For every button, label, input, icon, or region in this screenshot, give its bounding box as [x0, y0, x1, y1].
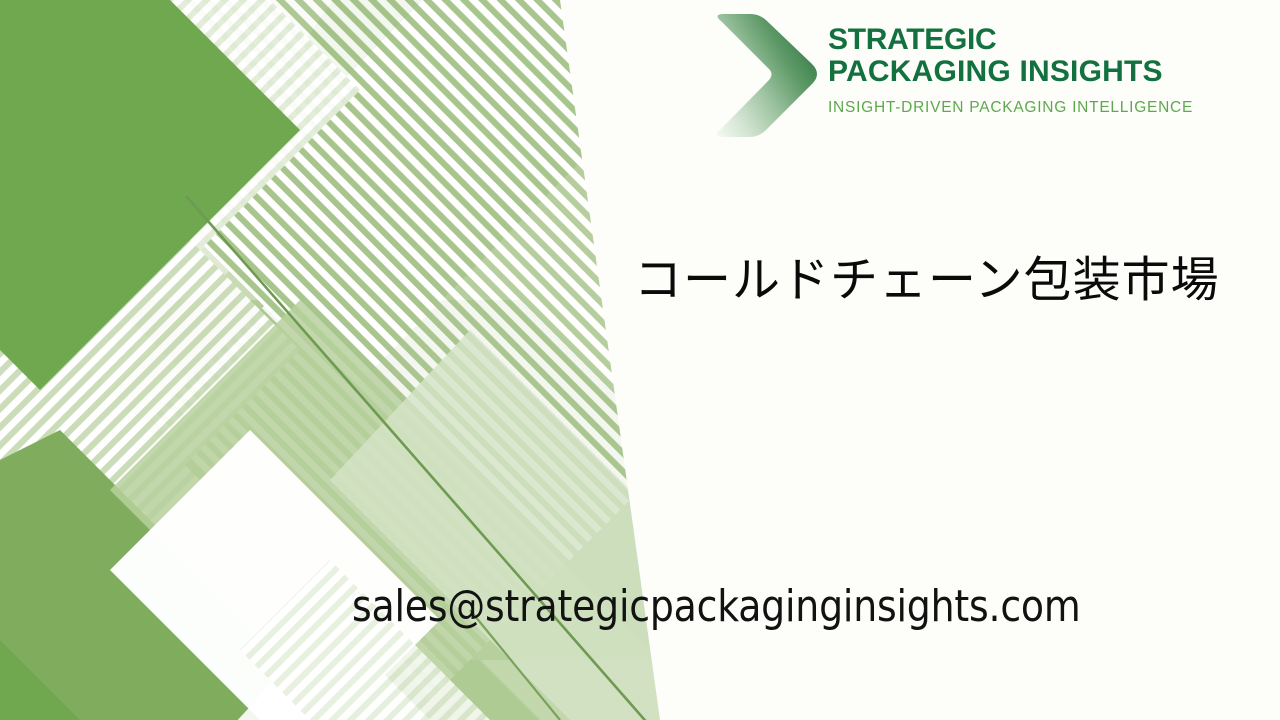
- contact-email[interactable]: sales@strategicpackaginginsights.com: [352, 578, 1081, 636]
- chevron-mark-icon: [706, 8, 822, 144]
- company-logo: STRATEGIC PACKAGING INSIGHTS INSIGHT-DRI…: [706, 8, 1226, 144]
- logo-name-line-2: PACKAGING INSIGHTS: [828, 56, 1193, 88]
- logo-tagline: INSIGHT-DRIVEN PACKAGING INTELLIGENCE: [828, 99, 1193, 117]
- logo-name: STRATEGIC PACKAGING INSIGHTS: [828, 24, 1193, 88]
- slide-canvas: STRATEGIC PACKAGING INSIGHTS INSIGHT-DRI…: [0, 0, 1280, 720]
- page-title: コールドチェーン包装市場: [634, 250, 1274, 310]
- logo-name-line-1: STRATEGIC: [828, 24, 1193, 56]
- logo-wordmark: STRATEGIC PACKAGING INSIGHTS INSIGHT-DRI…: [828, 8, 1193, 117]
